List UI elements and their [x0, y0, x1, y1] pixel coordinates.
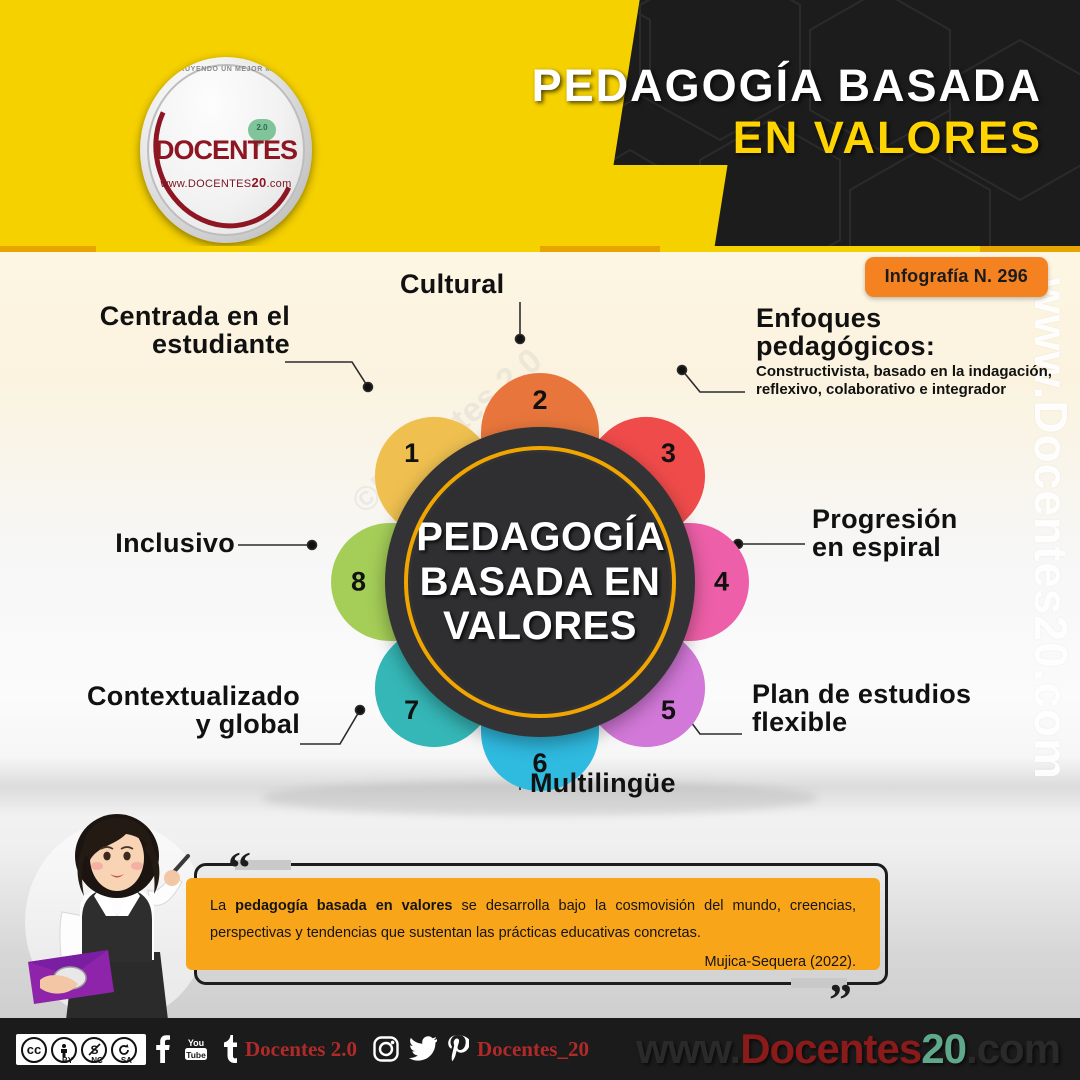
- site-name: Docentes: [740, 1025, 921, 1072]
- youtube-icon[interactable]: You Tube: [183, 1035, 209, 1063]
- svg-text:Tube: Tube: [186, 1050, 206, 1060]
- teacher-illustration: [22, 812, 212, 1020]
- logo-brand-text: DOCENTES: [140, 135, 312, 166]
- infographic-number-badge[interactable]: Infografía N. 296: [865, 257, 1048, 297]
- label-4-line2: en espiral: [812, 533, 1052, 561]
- flower-diagram: 1 2 3 4 5 6 7 8: [315, 357, 765, 807]
- label-7-line2: y global: [50, 710, 300, 738]
- quote-text-box: La pedagogía basada en valores se desarr…: [186, 878, 880, 970]
- page-title-line2: EN VALORES: [532, 111, 1042, 164]
- site-www: www.: [636, 1025, 740, 1072]
- site-number: 20: [921, 1025, 966, 1072]
- cc-label-nc: NC: [91, 1056, 103, 1065]
- docentes-logo[interactable]: CONSTRUYENDO UN MEJOR MAÑANA 2.0 DOCENTE…: [140, 57, 312, 243]
- footer-website-url[interactable]: www.Docentes20.com: [636, 1025, 1060, 1073]
- label-8-text: Inclusivo: [60, 529, 235, 557]
- page-title-line1: PEDAGOGÍA BASADA: [532, 62, 1042, 111]
- cc-label-by: BY: [62, 1056, 73, 1065]
- logo-url-number: 20: [251, 175, 266, 190]
- logo-url: www.DOCENTES20.com: [140, 175, 312, 190]
- label-inclusivo[interactable]: Inclusivo: [60, 529, 235, 557]
- cc-icon: cc: [21, 1037, 47, 1063]
- label-cultural[interactable]: Cultural: [400, 270, 600, 298]
- twitter-icon[interactable]: [409, 1036, 437, 1062]
- handle-docentes-underscore-20[interactable]: Docentes_20: [477, 1037, 589, 1062]
- instagram-icon[interactable]: [373, 1036, 399, 1062]
- label-progresion-en-espiral[interactable]: Progresión en espiral: [812, 505, 1052, 561]
- yellow-slab-secondary-decoration: [592, 165, 727, 252]
- logo-slogan: CONSTRUYENDO UN MEJOR MAÑANA: [140, 66, 312, 73]
- label-multilingue[interactable]: Multilingüe: [530, 769, 780, 797]
- label-3-line1: Enfoques: [756, 304, 1056, 332]
- label-contextualizado-y-global[interactable]: Contextualizado y global: [50, 682, 300, 738]
- pinterest-icon[interactable]: [447, 1035, 469, 1063]
- petal-2-number: 2: [481, 385, 599, 416]
- quote-text-pre: La: [210, 898, 235, 914]
- flower-core-gold-ring: [404, 446, 676, 718]
- logo-url-prefix: www.DOCENTES: [160, 178, 251, 190]
- infographic-page: CONSTRUYENDO UN MEJOR MAÑANA 2.0 DOCENTE…: [0, 0, 1080, 1080]
- cc-label-sa: SA: [121, 1056, 132, 1065]
- footer-bar: cc S BY NC SA: [0, 1018, 1080, 1080]
- site-tld: .com: [966, 1025, 1060, 1072]
- label-4-line1: Progresión: [812, 505, 1052, 533]
- logo-bubble-text: 2.0: [248, 123, 276, 132]
- quote-section: “ ” La pedagogía basada en valores se de…: [186, 855, 896, 1005]
- facebook-icon[interactable]: [151, 1035, 173, 1063]
- label-1-line1: Centrada en el: [60, 302, 290, 330]
- label-3-line2: pedagógicos:: [756, 332, 1056, 360]
- header-title-block: PEDAGOGÍA BASADA EN VALORES: [532, 62, 1042, 164]
- label-enfoques-pedagogicos[interactable]: Enfoques pedagógicos: Constructivista, b…: [756, 304, 1056, 399]
- header-banner: CONSTRUYENDO UN MEJOR MAÑANA 2.0 DOCENTE…: [0, 0, 1080, 252]
- logo-url-suffix: .com: [267, 178, 292, 190]
- cc-col-cc: cc: [21, 1037, 49, 1063]
- label-1-line2: estudiante: [60, 330, 290, 358]
- label-5-line1: Plan de estudios: [752, 680, 1012, 708]
- label-plan-de-estudios-flexible[interactable]: Plan de estudios flexible: [752, 680, 1012, 736]
- tumblr-icon[interactable]: [219, 1035, 237, 1063]
- label-2-text: Cultural: [400, 270, 600, 298]
- quote-close-mark: ”: [829, 977, 852, 1023]
- label-7-line1: Contextualizado: [50, 682, 300, 710]
- label-3-subtitle: Constructivista, basado en la indagación…: [756, 363, 1056, 399]
- quote-text-bold: pedagogía basada en valores: [235, 898, 452, 914]
- creative-commons-badge[interactable]: cc S BY NC SA: [16, 1034, 146, 1065]
- label-centrada-en-el-estudiante[interactable]: Centrada en el estudiante: [60, 302, 290, 358]
- svg-text:You: You: [188, 1038, 204, 1048]
- quote-attribution: Mujica-Sequera (2022).: [210, 949, 856, 976]
- label-6-text: Multilingüe: [530, 769, 780, 797]
- label-5-line2: flexible: [752, 708, 1012, 736]
- handle-docentes-20[interactable]: Docentes 2.0: [245, 1037, 357, 1062]
